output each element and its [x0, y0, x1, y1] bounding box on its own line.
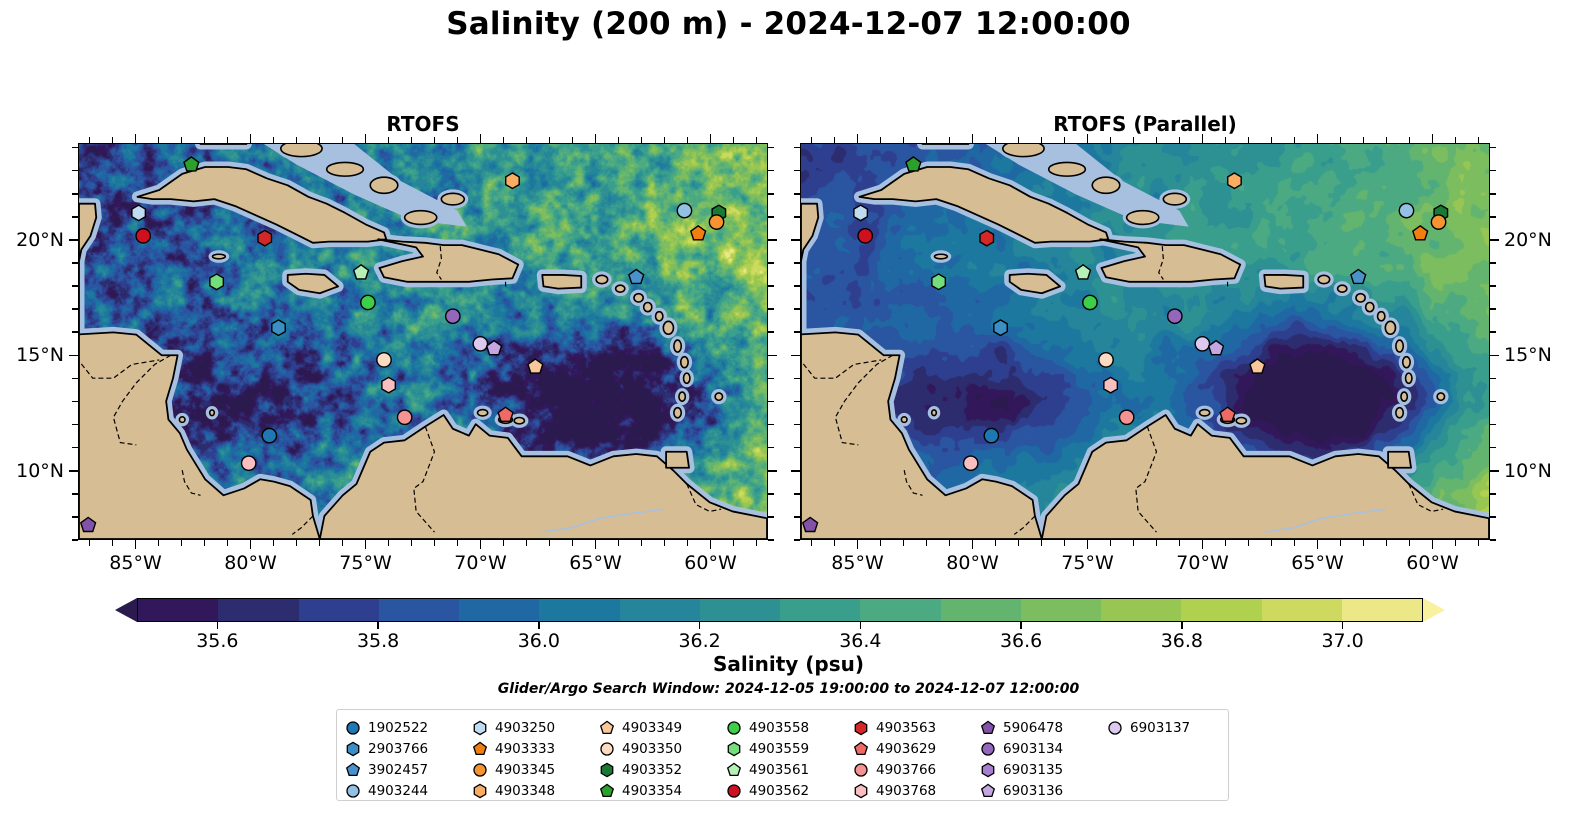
x-tick-minor: [1478, 540, 1480, 546]
legend-label: 4903629: [876, 741, 936, 757]
colorbar-tick-label: 36.2: [655, 630, 745, 652]
float-marker-4903562[interactable]: [858, 229, 872, 243]
x-tick-minor: [89, 540, 91, 546]
legend-marker-circle-icon: [345, 783, 361, 799]
legend-entry-4903345[interactable]: 4903345: [472, 759, 599, 780]
legend-label: 4903561: [749, 762, 809, 778]
x-tick-top: [365, 134, 367, 143]
x-tick-top: [135, 134, 137, 143]
legend-label: 2903766: [368, 741, 428, 757]
y-tick-left: [72, 308, 78, 310]
y-tick-right: [768, 170, 774, 172]
legend-entry-4903350[interactable]: 4903350: [599, 738, 726, 759]
colorbar-tick: [538, 622, 539, 629]
y-tick-right: [768, 216, 774, 218]
x-tick-top: [1271, 137, 1273, 143]
glider-argo-markers[interactable]: [79, 144, 767, 539]
legend-marker-hexagon-icon: [599, 762, 615, 778]
x-tick-top: [503, 137, 505, 143]
x-tick-minor: [158, 540, 160, 546]
legend-entry-4903352[interactable]: 4903352: [599, 759, 726, 780]
y-tick-left: [72, 516, 78, 518]
x-tick-major: [857, 540, 859, 549]
x-tick-major: [480, 540, 482, 549]
y-tick-right: [1490, 193, 1496, 195]
y-tick-left: [72, 170, 78, 172]
x-tick-top: [1087, 134, 1089, 143]
y-tick-left: [791, 355, 800, 357]
page-title: Salinity (200 m) - 2024-12-07 12:00:00: [0, 6, 1577, 42]
y-tick-right: [768, 285, 774, 287]
x-tick-top: [1248, 137, 1250, 143]
x-tick-top: [549, 137, 551, 143]
float-marker-4903629[interactable]: [498, 407, 513, 421]
x-tick-minor: [1386, 540, 1388, 546]
x-axis-label: 65°W: [1273, 552, 1363, 574]
x-tick-top: [1409, 137, 1411, 143]
legend-label: 4903250: [495, 720, 555, 736]
float-marker-4903244[interactable]: [1399, 203, 1413, 217]
legend-label: 4903766: [876, 762, 936, 778]
float-marker-4903561[interactable]: [1076, 265, 1091, 279]
x-tick-top: [1041, 137, 1043, 143]
legend-entry-6903136[interactable]: 6903136: [980, 780, 1107, 801]
float-marker-4903562[interactable]: [136, 229, 150, 243]
legend-entry-1902522[interactable]: 1902522: [345, 717, 472, 738]
x-tick-top: [1156, 137, 1158, 143]
legend-label: 6903137: [1130, 720, 1190, 736]
x-axis-label: 60°W: [1388, 552, 1478, 574]
float-marker-6903134[interactable]: [1168, 309, 1182, 323]
y-tick-left: [794, 539, 800, 541]
legend-marker-hexagon-icon: [726, 741, 742, 757]
y-tick-right: [1490, 355, 1499, 357]
x-tick-top: [250, 134, 252, 143]
float-marker-4903561[interactable]: [354, 265, 369, 279]
x-tick-top: [572, 137, 574, 143]
x-tick-top: [1202, 134, 1204, 143]
float-marker-4903558[interactable]: [1083, 295, 1097, 309]
y-tick-left: [791, 470, 800, 472]
legend-marker-pentagon-icon: [599, 720, 615, 736]
colorbar-tick: [699, 622, 700, 629]
colorbar-tick-label: 36.4: [815, 630, 905, 652]
legend-label: 4903345: [495, 762, 555, 778]
legend-marker-circle-icon: [726, 783, 742, 799]
y-tick-right: [768, 539, 774, 541]
colorbar-tick: [860, 622, 861, 629]
legend-marker-hexagon-icon: [853, 783, 869, 799]
legend-entry-4903766[interactable]: 4903766: [853, 759, 980, 780]
x-tick-top: [89, 137, 91, 143]
legend-label: 4903768: [876, 783, 936, 799]
legend-entry-4903563[interactable]: 4903563: [853, 717, 980, 738]
legend-label: 4903562: [749, 783, 809, 799]
x-tick-top: [687, 137, 689, 143]
x-tick-top: [204, 137, 206, 143]
x-tick-top: [480, 134, 482, 143]
legend-label: 4903244: [368, 783, 428, 799]
float-marker-4903350[interactable]: [377, 353, 391, 367]
x-tick-minor: [388, 540, 390, 546]
x-tick-top: [112, 137, 114, 143]
panel-right-title: RTOFS (Parallel): [800, 112, 1490, 136]
float-marker-4903348[interactable]: [506, 173, 519, 189]
legend-entry-4903768[interactable]: 4903768: [853, 780, 980, 801]
x-tick-minor: [319, 540, 321, 546]
float-marker-4903563[interactable]: [258, 230, 271, 246]
float-marker-5906478[interactable]: [81, 517, 96, 531]
legend-entry-4903348[interactable]: 4903348: [472, 780, 599, 801]
x-tick-top: [1110, 137, 1112, 143]
x-tick-top: [811, 137, 813, 143]
y-tick-right: [1490, 285, 1496, 287]
x-tick-major: [972, 540, 974, 549]
x-tick-top: [733, 137, 735, 143]
y-tick-left: [72, 331, 78, 333]
y-tick-right: [768, 331, 774, 333]
float-marker-4903767[interactable]: [964, 456, 978, 470]
legend-entry-4903349[interactable]: 4903349: [599, 717, 726, 738]
float-marker-4903629[interactable]: [1220, 407, 1235, 421]
y-tick-right: [768, 147, 774, 149]
colorbar-band-8: [780, 599, 860, 621]
legend-label: 4903559: [749, 741, 809, 757]
float-marker-1902522[interactable]: [984, 428, 998, 442]
x-tick-minor: [687, 540, 689, 546]
colorbar-band-5: [539, 599, 619, 621]
float-marker-4903559[interactable]: [210, 274, 223, 290]
x-tick-top: [880, 137, 882, 143]
y-tick-right: [768, 470, 777, 472]
colorbar-band-15: [1342, 599, 1422, 621]
x-tick-top: [296, 137, 298, 143]
float-marker-4903250[interactable]: [132, 205, 145, 221]
legend-entry-4903333[interactable]: 4903333: [472, 738, 599, 759]
float-marker-4903345[interactable]: [709, 215, 723, 229]
y-tick-right: [1490, 216, 1496, 218]
y-tick-left: [72, 493, 78, 495]
x-tick-top: [1225, 137, 1227, 143]
x-tick-top: [857, 134, 859, 143]
panel-left-title: RTOFS: [78, 112, 768, 136]
y-tick-left: [794, 308, 800, 310]
float-marker-4903767[interactable]: [242, 456, 256, 470]
float-marker-4903559[interactable]: [932, 274, 945, 290]
legend-entry-4903629[interactable]: 4903629: [853, 738, 980, 759]
x-tick-top: [1064, 137, 1066, 143]
float-marker-4903333[interactable]: [691, 226, 706, 240]
colorbar-band-12: [1101, 599, 1181, 621]
x-axis-label: 65°W: [551, 552, 641, 574]
legend-marker-circle-icon: [345, 720, 361, 736]
colorbar-band-14: [1262, 599, 1342, 621]
y-tick-right: [1490, 493, 1496, 495]
x-tick-minor: [411, 540, 413, 546]
x-tick-minor: [1294, 540, 1296, 546]
x-tick-minor: [296, 540, 298, 546]
colorbar-tick-label: 35.8: [333, 630, 423, 652]
float-marker-6903137[interactable]: [1195, 337, 1209, 351]
x-tick-top: [710, 134, 712, 143]
y-tick-right: [768, 447, 774, 449]
x-tick-minor: [227, 540, 229, 546]
float-marker-2903766[interactable]: [272, 320, 285, 336]
x-tick-top: [434, 137, 436, 143]
x-tick-top: [1455, 137, 1457, 143]
colorbar-tick-label: 36.0: [494, 630, 584, 652]
legend-label: 4903352: [622, 762, 682, 778]
float-marker-4903348[interactable]: [1228, 173, 1241, 189]
float-legend[interactable]: 1902522490325049033494903558490356359064…: [336, 709, 1229, 801]
y-tick-right: [1490, 401, 1496, 403]
y-tick-right: [768, 516, 774, 518]
legend-entry-4903250[interactable]: 4903250: [472, 717, 599, 738]
legend-label: 4903558: [749, 720, 809, 736]
x-tick-minor: [1248, 540, 1250, 546]
x-tick-minor: [549, 540, 551, 546]
y-tick-left: [72, 378, 78, 380]
y-axis-label: 20°N: [1504, 230, 1574, 250]
x-tick-top: [227, 137, 229, 143]
colorbar-extend-low-arrow: [115, 598, 137, 622]
y-tick-right: [1490, 170, 1496, 172]
y-tick-left: [794, 285, 800, 287]
colorbar-band-1: [218, 599, 298, 621]
map-panel-rtofs-parallel[interactable]: [800, 143, 1490, 540]
float-marker-4903345[interactable]: [1431, 215, 1445, 229]
float-marker-3902457[interactable]: [629, 269, 644, 283]
float-marker-4903350[interactable]: [1099, 353, 1113, 367]
float-marker-3902457[interactable]: [1351, 269, 1366, 283]
float-marker-4903250[interactable]: [854, 205, 867, 221]
x-axis-label: 80°W: [928, 552, 1018, 574]
legend-entry-5906478[interactable]: 5906478: [980, 717, 1107, 738]
x-axis-label: 75°W: [1043, 552, 1133, 574]
colorbar-band-13: [1181, 599, 1261, 621]
float-marker-4903349[interactable]: [1250, 359, 1265, 373]
y-axis-label: 15°N: [1504, 345, 1574, 365]
x-tick-top: [1478, 137, 1480, 143]
x-tick-minor: [756, 540, 758, 546]
legend-label: 6903136: [1003, 783, 1063, 799]
x-tick-top: [1294, 137, 1296, 143]
x-tick-minor: [1455, 540, 1457, 546]
y-tick-left: [794, 262, 800, 264]
x-tick-top: [834, 137, 836, 143]
colorbar-band-2: [299, 599, 379, 621]
y-tick-left: [72, 447, 78, 449]
y-tick-right: [768, 401, 774, 403]
y-tick-left: [69, 239, 78, 241]
x-tick-minor: [880, 540, 882, 546]
x-tick-top: [526, 137, 528, 143]
x-tick-top: [595, 134, 597, 143]
x-tick-minor: [342, 540, 344, 546]
y-tick-right: [1490, 331, 1496, 333]
y-tick-left: [794, 401, 800, 403]
legend-marker-hexagon-icon: [472, 720, 488, 736]
legend-entry-4903561[interactable]: 4903561: [726, 759, 853, 780]
y-tick-left: [72, 401, 78, 403]
y-tick-right: [1490, 239, 1499, 241]
x-tick-minor: [1064, 540, 1066, 546]
colorbar-tick-label: 36.8: [1137, 630, 1227, 652]
float-marker-1902522[interactable]: [262, 428, 276, 442]
legend-entry-4903354[interactable]: 4903354: [599, 780, 726, 801]
y-tick-left: [794, 147, 800, 149]
colorbar-band-3: [379, 599, 459, 621]
x-axis-label: 75°W: [321, 552, 411, 574]
y-tick-left: [69, 355, 78, 357]
legend-label: 1902522: [368, 720, 428, 736]
colorbar-tick-label: 36.6: [976, 630, 1066, 652]
x-tick-top: [1133, 137, 1135, 143]
y-tick-right: [768, 493, 774, 495]
float-marker-6903136[interactable]: [1209, 341, 1224, 355]
x-tick-top: [995, 137, 997, 143]
legend-entry-4903244[interactable]: 4903244: [345, 780, 472, 801]
x-tick-top: [756, 137, 758, 143]
y-axis-label: 10°N: [1504, 461, 1574, 481]
y-tick-left: [794, 331, 800, 333]
colorbar-tick: [1342, 622, 1343, 629]
legend-marker-hexagon-icon: [472, 783, 488, 799]
y-tick-left: [794, 193, 800, 195]
colorbar-extend-high-arrow: [1423, 598, 1445, 622]
float-marker-2903766[interactable]: [994, 320, 1007, 336]
float-marker-5906478[interactable]: [803, 517, 818, 531]
float-marker-4903558[interactable]: [361, 295, 375, 309]
colorbar-band-7: [700, 599, 780, 621]
x-tick-top: [1386, 137, 1388, 143]
legend-marker-pentagon-icon: [472, 741, 488, 757]
legend-marker-circle-icon: [853, 762, 869, 778]
legend-label: 4903354: [622, 783, 682, 799]
legend-marker-hexagon-icon: [853, 720, 869, 736]
x-tick-minor: [1018, 540, 1020, 546]
float-marker-4903766[interactable]: [1119, 410, 1133, 424]
float-marker-4903333[interactable]: [1413, 226, 1428, 240]
x-tick-major: [135, 540, 137, 549]
map-panel-rtofs[interactable]: [78, 143, 768, 540]
colorbar-tick: [1020, 622, 1021, 629]
x-tick-top: [411, 137, 413, 143]
colorbar-tick-label: 35.6: [172, 630, 262, 652]
legend-entry-4903558[interactable]: 4903558: [726, 717, 853, 738]
x-tick-top: [618, 137, 620, 143]
float-marker-4903768[interactable]: [382, 377, 395, 393]
y-tick-right: [768, 378, 774, 380]
legend-entry-4903562[interactable]: 4903562: [726, 780, 853, 801]
float-marker-6903137[interactable]: [473, 337, 487, 351]
legend-label: 5906478: [1003, 720, 1063, 736]
y-tick-left: [794, 378, 800, 380]
float-marker-6903134[interactable]: [446, 309, 460, 323]
float-marker-4903768[interactable]: [1104, 377, 1117, 393]
legend-entry-6903134[interactable]: 6903134: [980, 738, 1107, 759]
y-tick-left: [794, 493, 800, 495]
x-tick-minor: [1409, 540, 1411, 546]
x-tick-major: [250, 540, 252, 549]
legend-marker-pentagon-icon: [345, 762, 361, 778]
legend-label: 4903348: [495, 783, 555, 799]
float-marker-4903244[interactable]: [677, 203, 691, 217]
legend-marker-hexagon-icon: [980, 762, 996, 778]
float-marker-4903349[interactable]: [528, 359, 543, 373]
legend-marker-pentagon-icon: [980, 720, 996, 736]
y-tick-left: [72, 285, 78, 287]
colorbar-label: Salinity (psu): [0, 652, 1577, 676]
y-tick-right: [1490, 147, 1496, 149]
y-tick-right: [768, 424, 774, 426]
float-marker-4903563[interactable]: [980, 230, 993, 246]
x-tick-minor: [811, 540, 813, 546]
legend-entry-2903766[interactable]: 2903766: [345, 738, 472, 759]
legend-marker-circle-icon: [1107, 720, 1123, 736]
y-tick-right: [768, 308, 774, 310]
y-tick-right: [1490, 516, 1496, 518]
search-window-caption: Glider/Argo Search Window: 2024-12-05 19…: [0, 681, 1577, 697]
x-tick-minor: [434, 540, 436, 546]
x-tick-minor: [641, 540, 643, 546]
legend-label: 4903350: [622, 741, 682, 757]
legend-label: 4903349: [622, 720, 682, 736]
legend-marker-pentagon-icon: [980, 783, 996, 799]
colorbar-gradient: [137, 598, 1423, 622]
x-tick-minor: [181, 540, 183, 546]
x-tick-minor: [664, 540, 666, 546]
legend-entry-3902457[interactable]: 3902457: [345, 759, 472, 780]
y-tick-right: [768, 355, 777, 357]
float-marker-6903136[interactable]: [487, 341, 502, 355]
x-tick-minor: [834, 540, 836, 546]
x-tick-top: [1018, 137, 1020, 143]
legend-label: 4903563: [876, 720, 936, 736]
x-tick-top: [319, 137, 321, 143]
y-tick-left: [72, 193, 78, 195]
legend-empty-cell: [1107, 780, 1234, 801]
float-marker-4903766[interactable]: [397, 410, 411, 424]
x-axis-label: 85°W: [813, 552, 903, 574]
y-tick-right: [1490, 308, 1496, 310]
y-tick-left: [794, 170, 800, 172]
y-tick-right: [768, 262, 774, 264]
legend-entry-4903559[interactable]: 4903559: [726, 738, 853, 759]
x-tick-minor: [1271, 540, 1273, 546]
legend-entry-6903135[interactable]: 6903135: [980, 759, 1107, 780]
glider-argo-markers[interactable]: [801, 144, 1489, 539]
y-tick-left: [791, 239, 800, 241]
legend-marker-pentagon-icon: [726, 762, 742, 778]
colorbar-tick: [377, 622, 378, 629]
x-axis-label: 85°W: [91, 552, 181, 574]
x-tick-major: [1317, 540, 1319, 549]
y-tick-right: [768, 239, 777, 241]
float-marker-4903354[interactable]: [184, 157, 199, 171]
x-tick-top: [1432, 134, 1434, 143]
legend-marker-circle-icon: [980, 741, 996, 757]
colorbar: [115, 598, 1445, 622]
colorbar-band-4: [459, 599, 539, 621]
legend-marker-hexagon-icon: [345, 741, 361, 757]
y-tick-left: [794, 447, 800, 449]
legend-entry-6903137[interactable]: 6903137: [1107, 717, 1234, 738]
colorbar-tick-label: 37.0: [1298, 630, 1388, 652]
colorbar-tick: [217, 622, 218, 629]
x-tick-top: [158, 137, 160, 143]
float-marker-4903354[interactable]: [906, 157, 921, 171]
